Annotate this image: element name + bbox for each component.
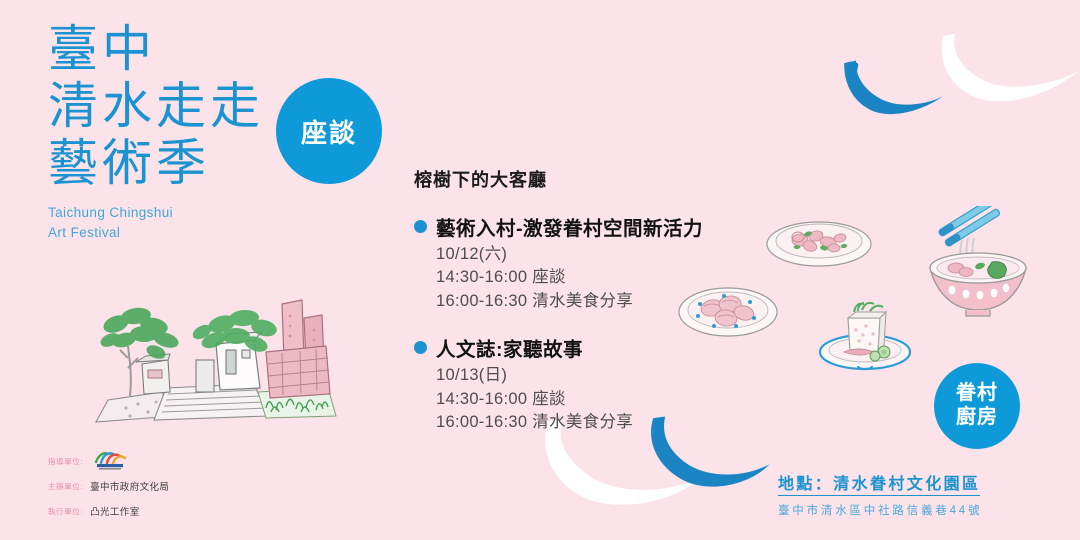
bullet-dot-icon: [414, 341, 427, 354]
credit-row: 執行單位: 凸光工作室: [48, 502, 278, 520]
event-details: 10/13(日) 14:30-16:00 座談 16:00-16:30 清水美食…: [436, 364, 734, 434]
event-date: 10/12(六): [436, 243, 734, 266]
badge-talk: 座談: [276, 78, 382, 184]
festival-title-english: Taichung Chingshui Art Festival: [48, 203, 278, 242]
title-line-2: 清水走走: [48, 81, 278, 132]
event-session-1: 14:30-16:00 座談: [436, 388, 734, 411]
event-title: 人文誌:家聽故事: [436, 333, 583, 362]
credits-block: 指導單位: 主辦單位: 臺中市政府文化局 執行單位: 凸光工作室: [48, 452, 278, 527]
badge-kitchen-line-2: 廚房: [956, 406, 998, 430]
badge-kitchen-line-1: 眷村: [956, 382, 998, 406]
event-title: 藝術入村-激發眷村空間新活力: [436, 212, 703, 241]
event-title-row: 藝術入村-激發眷村空間新活力: [414, 212, 734, 241]
credit-row: 主辦單位: 臺中市政府文化局: [48, 477, 278, 495]
title-english-line-1: Taichung Chingshui: [48, 203, 278, 223]
location-title: 地點：清水眷村文化園區: [778, 470, 980, 496]
credit-label: 主辦單位:: [48, 481, 83, 492]
event-date: 10/13(日): [436, 364, 734, 387]
taichung-city-government-logo-icon: [90, 451, 130, 471]
credit-value: 臺中市政府文化局: [90, 479, 169, 493]
credit-value: 凸光工作室: [90, 504, 140, 518]
white-brush-stroke-icon: [929, 25, 1080, 110]
bullet-dot-icon: [414, 220, 427, 233]
credit-row: 指導單位:: [48, 452, 278, 470]
program-heading: 榕樹下的大客廳: [414, 166, 734, 192]
village-scene-illustration: [70, 288, 350, 440]
title-english-line-2: Art Festival: [48, 223, 278, 243]
title-line-1: 臺中: [48, 24, 278, 75]
stirfry-plate-illustration: [764, 216, 874, 268]
festival-poster: 臺中 清水走走 藝術季 Taichung Chingshui Art Festi…: [0, 0, 1080, 540]
credit-label: 指導單位:: [48, 456, 83, 467]
title-line-3: 藝術季: [48, 138, 278, 189]
dumpling-plate-illustration: [676, 280, 780, 340]
festival-title-block: 臺中 清水走走 藝術季 Taichung Chingshui Art Festi…: [48, 24, 278, 242]
event-session-2: 16:00-16:30 清水美食分享: [436, 411, 734, 434]
location-block: 地點：清水眷村文化園區 臺中市清水區中社路信義巷44號: [778, 470, 1058, 518]
credit-label: 執行單位:: [48, 506, 83, 517]
noodle-bowl-illustration: [918, 206, 1038, 318]
tofu-dish-illustration: [818, 300, 912, 372]
event-item: 人文誌:家聽故事 10/13(日) 14:30-16:00 座談 16:00-1…: [414, 333, 734, 434]
location-address: 臺中市清水區中社路信義巷44號: [778, 502, 1058, 518]
badge-kitchen: 眷村 廚房: [934, 363, 1020, 449]
